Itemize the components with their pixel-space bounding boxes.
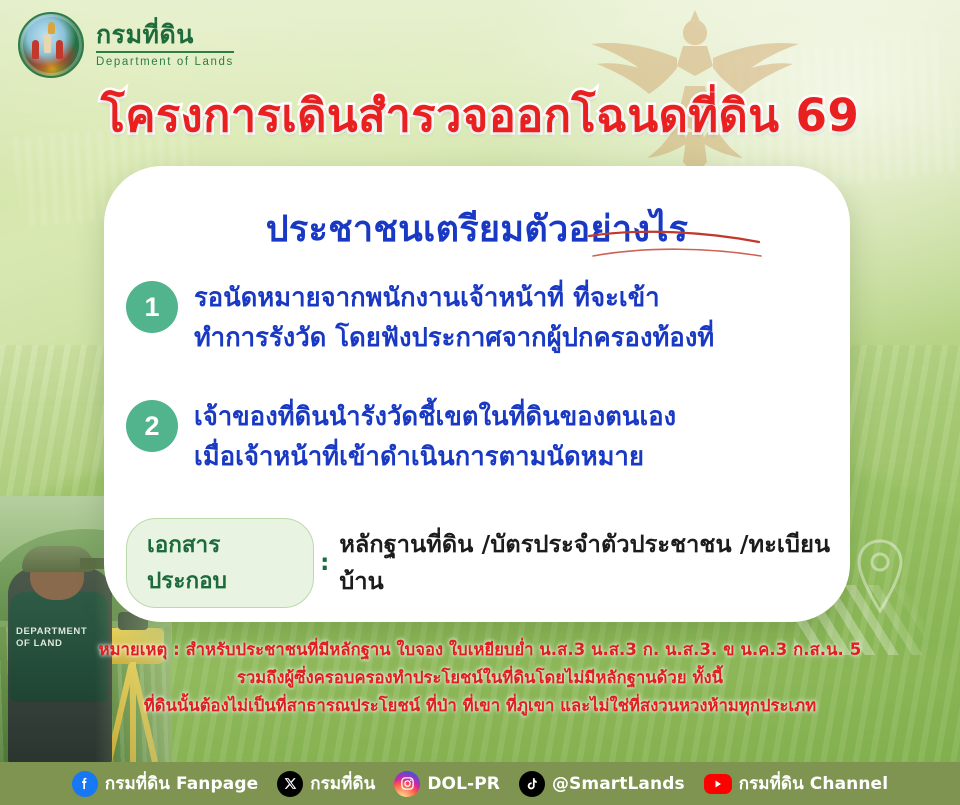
documents-label-pill: เอกสารประกอบ [126,518,314,608]
content-card: ประชาชนเตรียมตัวอย่างไร 1 รอนัดหมายจากพน… [104,166,850,622]
footnote: หมายเหตุ : สำหรับประชาชนที่มีหลักฐาน ใบจ… [0,636,960,720]
logo-thai-name: กรมที่ดิน [96,22,234,48]
social-link-facebook[interactable]: กรมที่ดิน Fanpage [72,770,258,797]
social-link-x[interactable]: กรมที่ดิน [277,770,375,797]
documents-colon: : [320,550,329,576]
social-media-bar: กรมที่ดิน Fanpage กรมที่ดิน DOL-PR @Sm [0,762,960,805]
instagram-icon [394,771,420,797]
item-line: รอนัดหมายจากพนักงานเจ้าหน้าที่ ที่จะเข้า [194,279,714,319]
item-line: เจ้าของที่ดินนำรังวัดชี้เขตในที่ดินของตน… [194,398,676,438]
poster-root: DEPARTMENT OF LAND กรมที่ดิน Department … [0,0,960,805]
social-link-youtube[interactable]: กรมที่ดิน Channel [704,770,888,797]
item-text: รอนัดหมายจากพนักงานเจ้าหน้าที่ ที่จะเข้า… [194,279,714,358]
x-twitter-icon [277,771,303,797]
logo-english-name: Department of Lands [96,56,234,68]
social-label: กรมที่ดิน Fanpage [105,770,258,797]
department-of-lands-seal-icon [18,12,84,78]
social-label: DOL-PR [427,774,500,794]
footnote-line-3: ที่ดินนั้นต้องไม่เป็นที่สาธารณประโยชน์ ท… [0,692,960,720]
social-link-instagram[interactable]: DOL-PR [394,771,500,797]
card-heading: ประชาชนเตรียมตัวอย่างไร [104,200,850,257]
required-documents-row: เอกสารประกอบ : หลักฐานที่ดิน /บัตรประจำต… [126,518,850,608]
item-text: เจ้าของที่ดินนำรังวัดชี้เขตในที่ดินของตน… [194,398,676,477]
item-line: เมื่อเจ้าหน้าที่เข้าดำเนินการตามนัดหมาย [194,438,676,478]
list-item: 2 เจ้าของที่ดินนำรังวัดชี้เขตในที่ดินของ… [126,398,836,477]
documents-value: หลักฐานที่ดิน /บัตรประจำตัวประชาชน /ทะเบ… [339,526,850,600]
page-title: โครงการเดินสำรวจออกโฉนดที่ดิน 69 [0,90,960,142]
social-label: กรมที่ดิน [310,770,375,797]
footnote-line-2: รวมถึงผู้ซึ่งครอบครองทำประโยชน์ในที่ดินโ… [0,664,960,692]
item-number-badge: 1 [126,281,178,333]
item-line: ทำการรังวัด โดยฟังประกาศจากผู้ปกครองท้อง… [194,319,714,359]
item-number-badge: 2 [126,400,178,452]
logo-divider [96,51,234,53]
footnote-line-1: หมายเหตุ : สำหรับประชาชนที่มีหลักฐาน ใบจ… [0,636,960,664]
youtube-icon [704,774,732,794]
social-label: กรมที่ดิน Channel [739,770,888,797]
social-label: @SmartLands [552,774,685,794]
facebook-icon [72,771,98,797]
social-link-tiktok[interactable]: @SmartLands [519,771,685,797]
tiktok-icon [519,771,545,797]
list-item: 1 รอนัดหมายจากพนักงานเจ้าหน้าที่ ที่จะเข… [126,279,836,358]
department-logo: กรมที่ดิน Department of Lands [18,12,234,78]
